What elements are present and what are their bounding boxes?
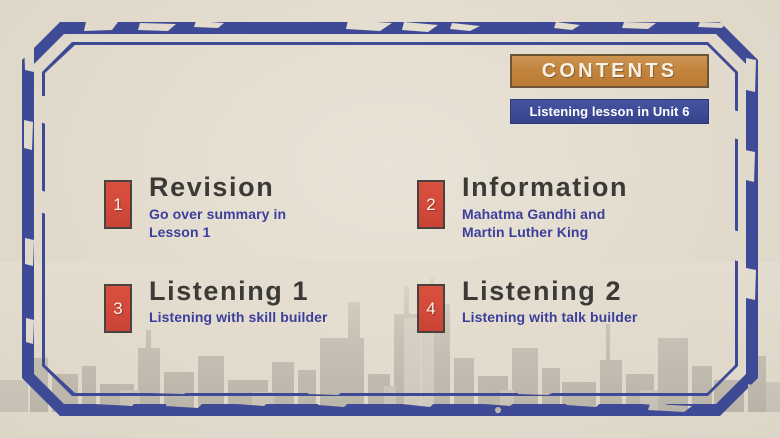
item-number-2: 2 <box>426 195 435 215</box>
contents-item-4[interactable]: 4 Listening 2 Listening with talk builde… <box>417 277 637 333</box>
item-subtitle-2: Mahatma Gandhi and Martin Luther King <box>462 206 628 241</box>
item-number-badge-3: 3 <box>104 284 132 333</box>
item-number-3: 3 <box>113 299 122 319</box>
item-subtitle-1: Go over summary in Lesson 1 <box>149 206 286 241</box>
item-title-3: Listening 1 <box>149 277 328 305</box>
contents-item-1[interactable]: 1 Revision Go over summary in Lesson 1 <box>104 173 286 241</box>
item-number-4: 4 <box>426 299 435 319</box>
contents-item-3[interactable]: 3 Listening 1 Listening with skill build… <box>104 277 328 333</box>
slide-canvas: CONTENTS Listening lesson in Unit 6 1 Re… <box>0 0 780 438</box>
item-number-1: 1 <box>113 195 122 215</box>
item-text-block-3: Listening 1 Listening with skill builder <box>149 277 328 327</box>
item-subtitle-3: Listening with skill builder <box>149 309 328 327</box>
item-title-1: Revision <box>149 173 286 201</box>
item-title-2: Information <box>462 173 628 201</box>
item-number-badge-1: 1 <box>104 180 132 229</box>
contents-list: 1 Revision Go over summary in Lesson 1 2… <box>0 0 780 438</box>
item-text-block-1: Revision Go over summary in Lesson 1 <box>149 173 286 241</box>
item-subtitle-4: Listening with talk builder <box>462 309 637 327</box>
item-number-badge-4: 4 <box>417 284 445 333</box>
item-text-block-2: Information Mahatma Gandhi and Martin Lu… <box>462 173 628 241</box>
contents-item-2[interactable]: 2 Information Mahatma Gandhi and Martin … <box>417 173 628 241</box>
item-number-badge-2: 2 <box>417 180 445 229</box>
item-title-4: Listening 2 <box>462 277 637 305</box>
item-text-block-4: Listening 2 Listening with talk builder <box>462 277 637 327</box>
